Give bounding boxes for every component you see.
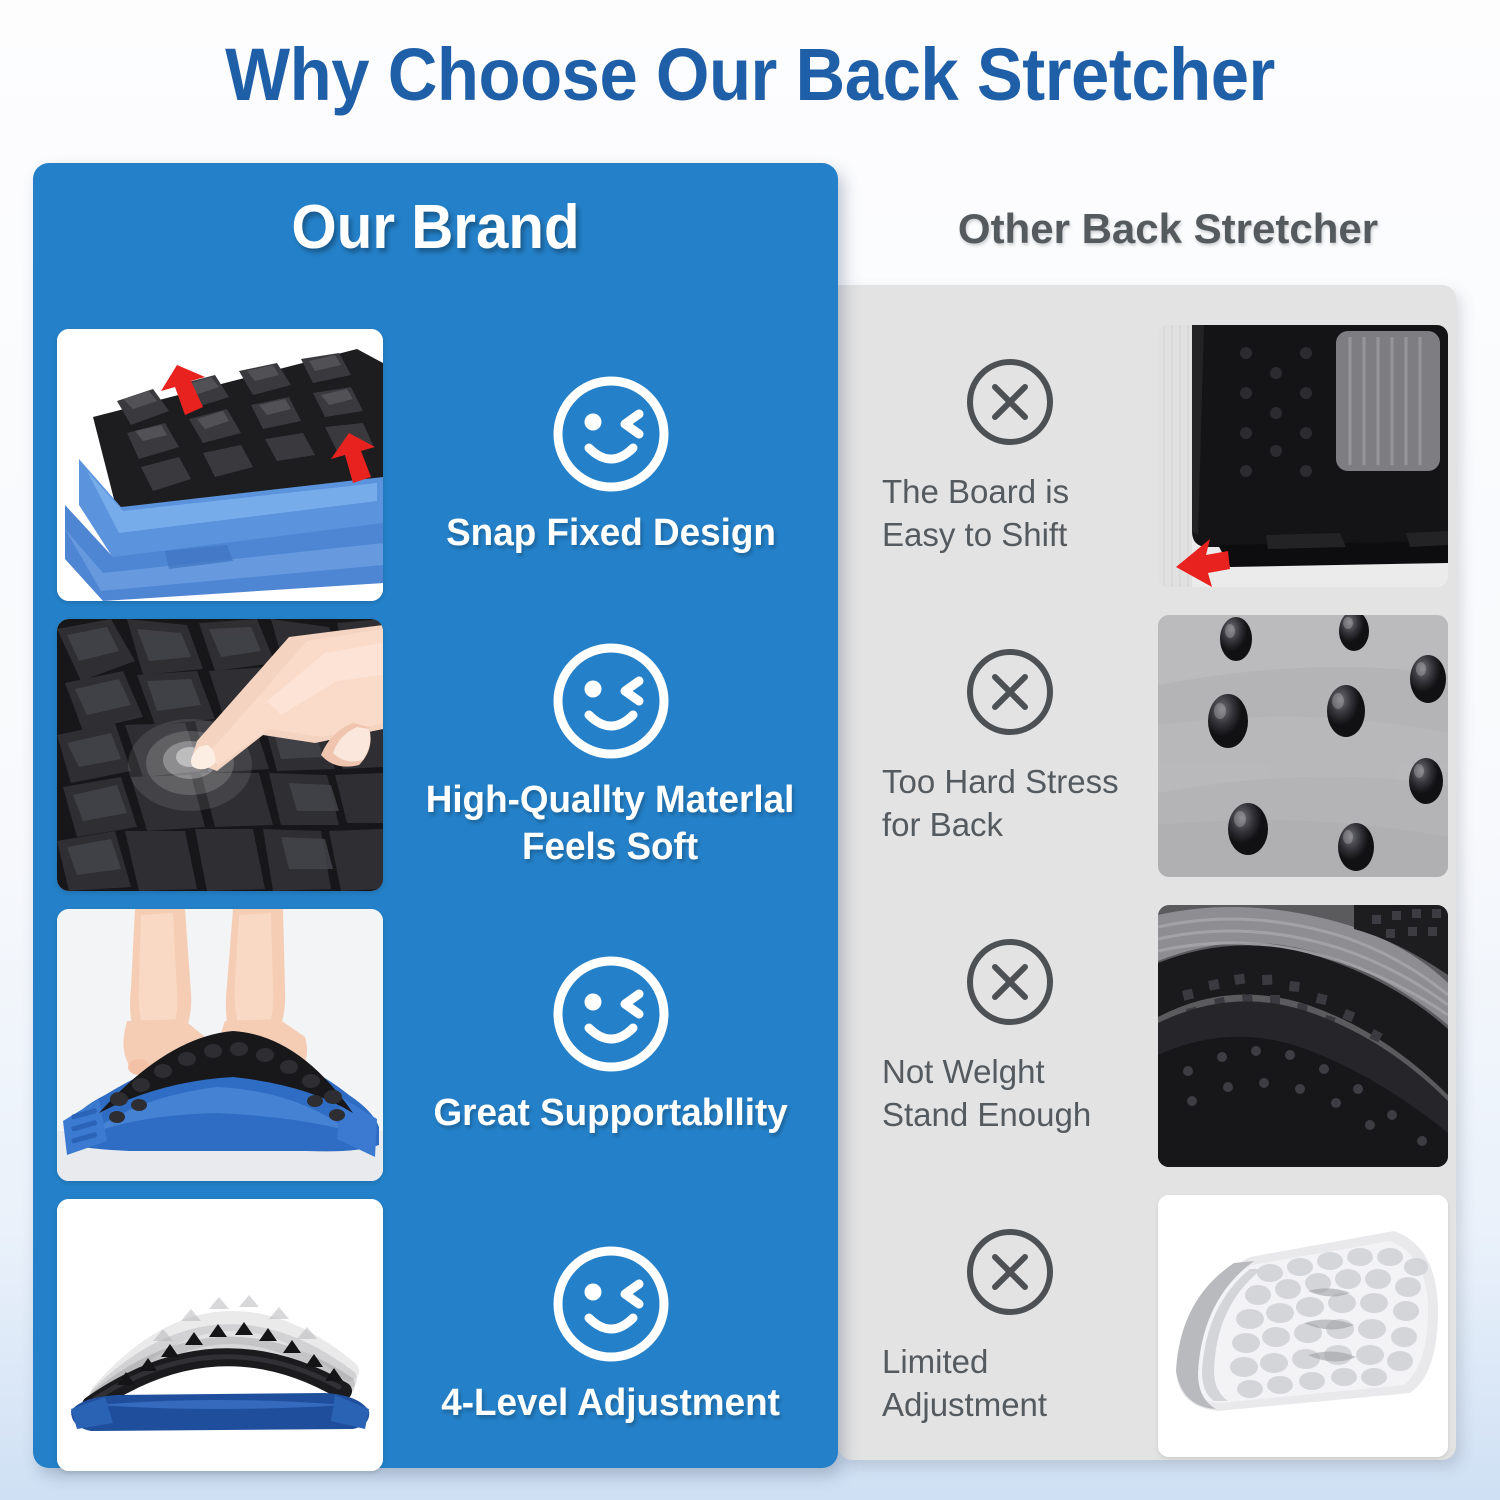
con-label: Limited Adjustment	[882, 1341, 1138, 1427]
con-label: The Board is Easy to Shift	[882, 471, 1138, 557]
loose-board-corner-photo	[1158, 325, 1448, 587]
weak-board-photo	[1158, 905, 1448, 1167]
winking-smiley-icon	[549, 952, 673, 1076]
other-con-row: Not Welght Stand Enough	[862, 900, 1462, 1172]
other-con-text: Too Hard Stress for Back	[862, 610, 1158, 882]
brand-feature-row: Snap Fixed Design	[33, 320, 838, 610]
our-brand-heading: Our Brand	[57, 192, 814, 263]
feature-label-line2: Feels Soft	[426, 824, 795, 872]
winking-smiley-icon	[549, 639, 673, 763]
other-con-row: Limited Adjustment	[862, 1190, 1462, 1462]
feature-label-line1: High-Quallty Materlal	[426, 777, 795, 825]
fixed-arch-cushion-photo	[1158, 1195, 1448, 1457]
brand-feature-text: High-Quallty Materlal Feels Soft	[383, 619, 838, 891]
feature-label: Snap Fixed Design	[446, 510, 776, 558]
page-title: Why Choose Our Back Stretcher	[53, 32, 1448, 117]
con-label-line2: Easy to Shift	[882, 514, 1138, 557]
winking-smiley-icon	[549, 1242, 673, 1366]
x-circle-icon	[963, 355, 1057, 449]
other-con-text: The Board is Easy to Shift	[862, 320, 1158, 592]
con-label-line2: Adjustment	[882, 1384, 1138, 1427]
brand-feature-text: 4-Level Adjustment	[383, 1199, 838, 1471]
con-label-line2: for Back	[882, 804, 1138, 847]
x-circle-icon	[963, 1225, 1057, 1319]
con-label-line1: Too Hard Stress	[882, 761, 1138, 804]
feet-standing-support-photo	[57, 909, 383, 1181]
brand-feature-text: Great Supportabllity	[383, 909, 838, 1181]
hard-nubs-photo	[1158, 615, 1448, 877]
other-con-text: Not Welght Stand Enough	[862, 900, 1158, 1172]
con-label-line2: Stand Enough	[882, 1094, 1138, 1137]
other-stretcher-heading: Other Back Stretcher	[880, 205, 1456, 253]
con-label-line1: Limited	[882, 1341, 1138, 1384]
other-con-text: Limited Adjustment	[862, 1190, 1158, 1462]
snap-fixed-design-photo	[57, 329, 383, 601]
four-level-adjustment-photo	[57, 1199, 383, 1471]
brand-feature-row: Great Supportabllity	[33, 900, 838, 1190]
brand-feature-row: High-Quallty Materlal Feels Soft	[33, 610, 838, 900]
x-circle-icon	[963, 935, 1057, 1029]
brand-feature-text: Snap Fixed Design	[383, 329, 838, 601]
con-label-line1: The Board is	[882, 471, 1138, 514]
finger-press-soft-material-photo	[57, 619, 383, 891]
feature-label: 4-Level Adjustment	[441, 1380, 780, 1428]
con-label-line1: Not Welght	[882, 1051, 1138, 1094]
winking-smiley-icon	[549, 372, 673, 496]
con-label: Not Welght Stand Enough	[882, 1051, 1138, 1137]
other-con-row: The Board is Easy to Shift	[862, 320, 1462, 592]
brand-feature-row: 4-Level Adjustment	[33, 1190, 838, 1480]
con-label: Too Hard Stress for Back	[882, 761, 1138, 847]
x-circle-icon	[963, 645, 1057, 739]
feature-label: High-Quallty Materlal Feels Soft	[426, 777, 795, 872]
other-con-row: Too Hard Stress for Back	[862, 610, 1462, 882]
feature-label: Great Supportabllity	[433, 1090, 787, 1138]
